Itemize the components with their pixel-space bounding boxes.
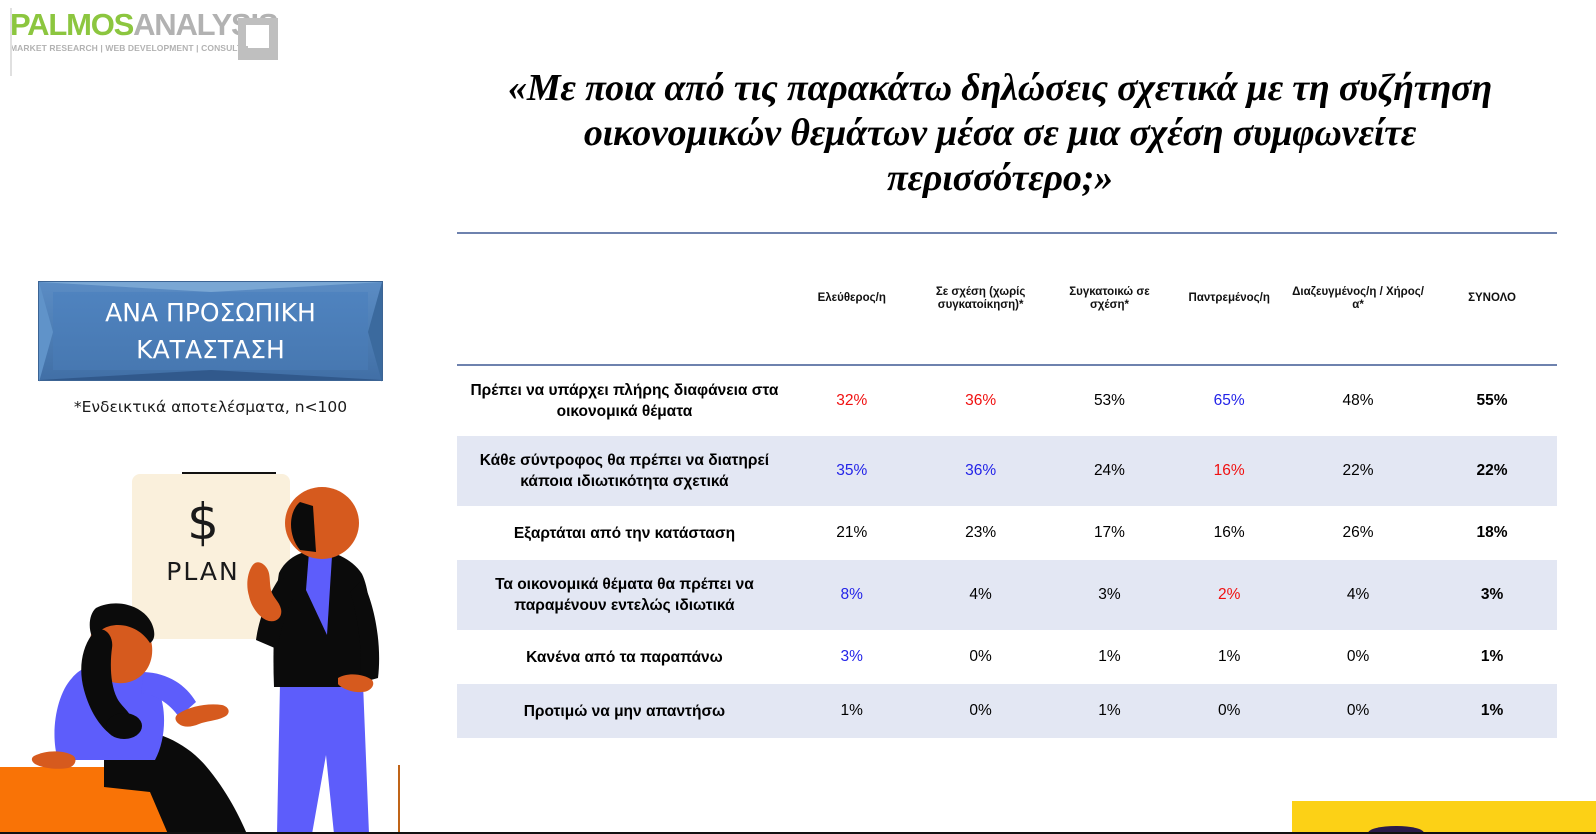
row-label: Τα οικονομικά θέματα θα πρέπει να παραμέ… [457, 560, 792, 630]
cell-value: 16% [1169, 436, 1289, 506]
cell-value: 23% [912, 506, 1050, 560]
column-header-0: Ελεύθερος/η [792, 234, 912, 364]
table-header: Ελεύθερος/η Σε σχέση (χωρίς συγκατοίκηση… [457, 234, 1557, 364]
row-label: Εξαρτάται από την κατάσταση [457, 506, 792, 560]
sample-size-footnote: *Ενδεικτικά αποτελέσματα, n<100 [38, 398, 383, 416]
slide: PALMOSANALYSIS MARKET RESEARCH | WEB DEV… [0, 0, 1596, 834]
brand-name-primary: PALMOS [10, 7, 133, 42]
cell-value: 36% [912, 436, 1050, 506]
illustration-edge-line [398, 765, 400, 834]
results-data-table: Ελεύθερος/η Σε σχέση (χωρίς συγκατοίκηση… [457, 234, 1557, 364]
cell-value: 22% [1289, 436, 1427, 506]
column-header-2: Συγκατοικώ σε σχέση* [1050, 234, 1170, 364]
cell-value: 26% [1289, 506, 1427, 560]
badge-bevel-bottom [39, 370, 383, 380]
cell-value: 0% [1289, 684, 1427, 738]
cell-value: 0% [912, 684, 1050, 738]
section-badge: ΑΝΑ ΠΡΟΣΩΠΙΚΗ ΚΑΤΑΣΤΑΣΗ [38, 281, 383, 381]
cell-value: 0% [1169, 684, 1289, 738]
results-table: Ελεύθερος/η Σε σχέση (χωρίς συγκατοίκηση… [457, 232, 1557, 738]
section-badge-face: ΑΝΑ ΠΡΟΣΩΠΙΚΗ ΚΑΤΑΣΤΑΣΗ [53, 292, 368, 370]
cell-value: 48% [1289, 366, 1427, 436]
cell-value: 21% [792, 506, 912, 560]
cell-total: 55% [1427, 366, 1557, 436]
table-row: Κανένα από τα παραπάνω3%0%1%1%0%1% [457, 630, 1557, 684]
column-header-1: Σε σχέση (χωρίς συγκατοίκηση)* [912, 234, 1050, 364]
column-header-label [457, 234, 792, 364]
brand-logo: PALMOSANALYSIS MARKET RESEARCH | WEB DEV… [10, 8, 280, 60]
cell-value: 65% [1169, 366, 1289, 436]
cell-total: 1% [1427, 630, 1557, 684]
cell-total: 1% [1427, 684, 1557, 738]
svg-text:PLAN: PLAN [166, 557, 239, 586]
cell-value: 0% [912, 630, 1050, 684]
cell-value: 36% [912, 366, 1050, 436]
cell-value: 1% [792, 684, 912, 738]
cell-value: 4% [912, 560, 1050, 630]
badge-bevel-left [39, 282, 53, 382]
badge-bevel-top [39, 282, 383, 292]
cell-value: 8% [792, 560, 912, 630]
cell-value: 16% [1169, 506, 1289, 560]
table-row: Κάθε σύντροφος θα πρέπει να διατηρεί κάπ… [457, 436, 1557, 506]
column-header-4: Διαζευγμένος/η / Χήρος/α* [1289, 234, 1427, 364]
table-body: Πρέπει να υπάρχει πλήρης διαφάνεια στα ο… [457, 366, 1557, 738]
cell-value: 1% [1169, 630, 1289, 684]
cell-value: 35% [792, 436, 912, 506]
cell-value: 53% [1050, 366, 1170, 436]
svg-text:$: $ [187, 493, 219, 551]
cell-value: 1% [1050, 684, 1170, 738]
table-row: Προτιμώ να μην απαντήσω1%0%1%0%0%1% [457, 684, 1557, 738]
row-label: Κάθε σύντροφος θα πρέπει να διατηρεί κάπ… [457, 436, 792, 506]
column-header-3: Παντρεμένος/η [1169, 234, 1289, 364]
two-people-financial-plan-illustration: $ PLAN [0, 440, 412, 834]
cell-value: 17% [1050, 506, 1170, 560]
cell-value: 3% [1050, 560, 1170, 630]
cell-value: 1% [1050, 630, 1170, 684]
cell-value: 24% [1050, 436, 1170, 506]
cell-value: 0% [1289, 630, 1427, 684]
column-header-5: ΣΥΝΟΛΟ [1427, 234, 1557, 364]
table-row: Πρέπει να υπάρχει πλήρης διαφάνεια στα ο… [457, 366, 1557, 436]
footer-accent-bar [1292, 801, 1596, 834]
logo-left-divider [10, 8, 12, 76]
cell-total: 3% [1427, 560, 1557, 630]
badge-bevel-right [368, 282, 382, 382]
cell-value: 2% [1169, 560, 1289, 630]
row-label: Πρέπει να υπάρχει πλήρης διαφάνεια στα ο… [457, 366, 792, 436]
cell-value: 4% [1289, 560, 1427, 630]
row-label: Κανένα από τα παραπάνω [457, 630, 792, 684]
table-row: Εξαρτάται από την κατάσταση21%23%17%16%2… [457, 506, 1557, 560]
results-body-table: Πρέπει να υπάρχει πλήρης διαφάνεια στα ο… [457, 366, 1557, 738]
square-outline-icon-notch [238, 46, 248, 60]
cell-value: 3% [792, 630, 912, 684]
cell-total: 22% [1427, 436, 1557, 506]
table-row: Τα οικονομικά θέματα θα πρέπει να παραμέ… [457, 560, 1557, 630]
cell-total: 18% [1427, 506, 1557, 560]
page-title: «Με ποια από τις παρακάτω δηλώσεις σχετι… [470, 66, 1530, 201]
cell-value: 32% [792, 366, 912, 436]
row-label: Προτιμώ να μην απαντήσω [457, 684, 792, 738]
section-badge-label: ΑΝΑ ΠΡΟΣΩΠΙΚΗ ΚΑΤΑΣΤΑΣΗ [105, 294, 316, 368]
table-header-row: Ελεύθερος/η Σε σχέση (χωρίς συγκατοίκηση… [457, 234, 1557, 364]
